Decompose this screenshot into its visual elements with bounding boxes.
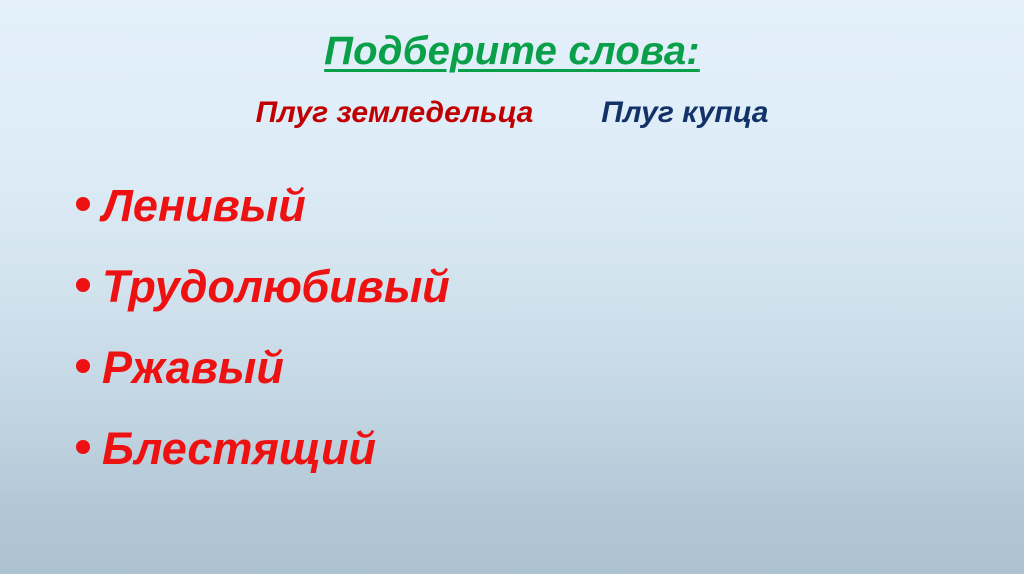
bullet-icon <box>76 197 90 211</box>
bullet-icon <box>76 440 90 454</box>
word-label: Трудолюбивый <box>102 257 450 317</box>
word-label: Блестящий <box>102 419 376 479</box>
bullet-icon <box>76 359 90 373</box>
list-item: Блестящий <box>76 419 450 500</box>
word-list: Ленивый Трудолюбивый Ржавый Блестящий <box>76 176 450 500</box>
list-item: Ленивый <box>76 176 450 257</box>
word-label: Ржавый <box>102 338 284 398</box>
word-label: Ленивый <box>102 176 306 236</box>
slide-canvas: Подберите слова: Плуг земледельцаПлуг ку… <box>0 0 1024 574</box>
list-item: Ржавый <box>76 338 450 419</box>
list-item: Трудолюбивый <box>76 257 450 338</box>
page-title: Подберите слова: <box>324 28 700 74</box>
subtitle-farmer-plough: Плуг земледельца <box>256 94 534 132</box>
bullet-icon <box>76 278 90 292</box>
title-area: Подберите слова: <box>0 28 1024 74</box>
subtitle-row: Плуг земледельцаПлуг купца <box>0 94 1024 132</box>
subtitle-merchant-plough: Плуг купца <box>601 94 768 132</box>
